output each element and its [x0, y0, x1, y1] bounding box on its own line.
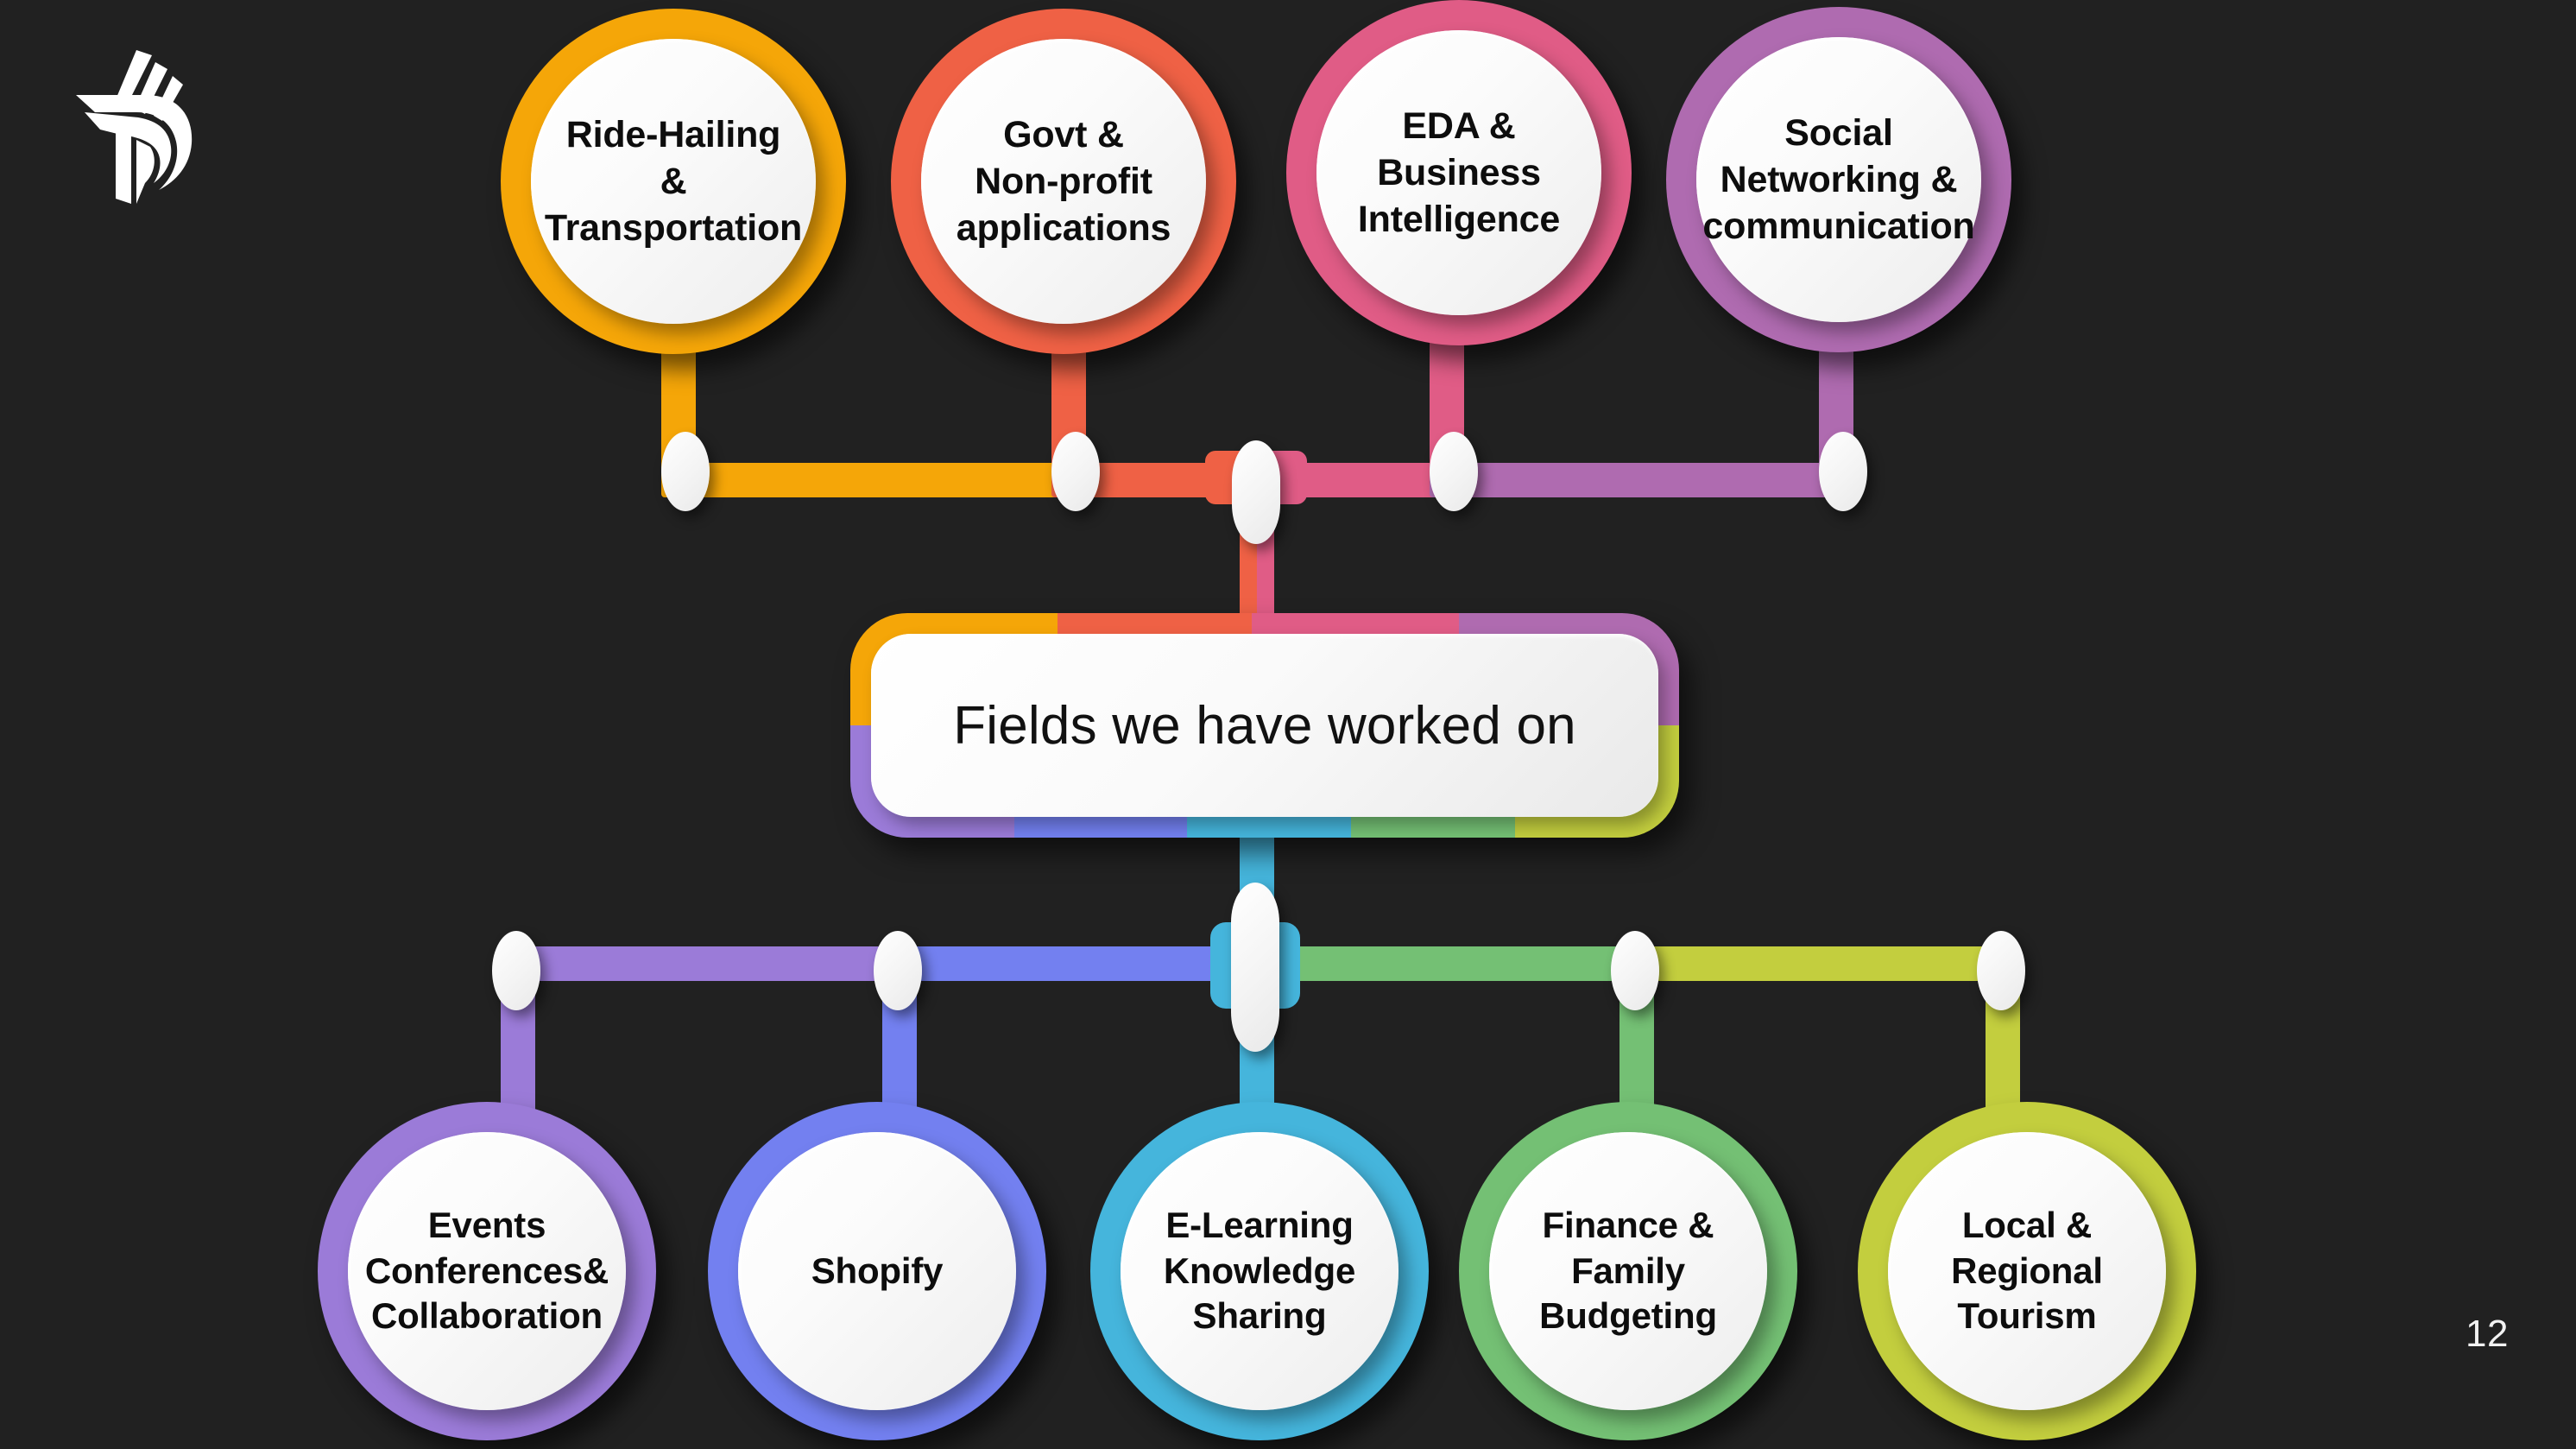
- connector-node-bottom-center: [1231, 883, 1279, 1052]
- bottom-node-2-label: E-Learning Knowledge Sharing: [1164, 1203, 1355, 1340]
- top-node-2-inner: EDA & Business Intelligence: [1316, 30, 1601, 315]
- connector-node-top-4: [1819, 432, 1867, 511]
- bottom-node-3-inner: Finance & Family Budgeting: [1489, 1132, 1767, 1410]
- top-node-0-label: Ride-Hailing & Transportation: [545, 111, 802, 252]
- top-node-2-label: EDA & Business Intelligence: [1316, 103, 1601, 244]
- connector-node-top-3: [1430, 432, 1478, 511]
- center-pill[interactable]: Fields we have worked on: [850, 613, 1679, 838]
- page-number: 12: [2466, 1313, 2509, 1356]
- connector-top-bus-purple: [1430, 463, 1854, 497]
- connector-bottom-bus-blue: [882, 946, 1262, 981]
- bottom-node-4[interactable]: Local & Regional Tourism: [1858, 1102, 2196, 1440]
- bottom-node-2-inner: E-Learning Knowledge Sharing: [1121, 1132, 1398, 1410]
- center-title: Fields we have worked on: [953, 695, 1576, 756]
- bottom-node-3-label: Finance & Family Budgeting: [1539, 1203, 1717, 1340]
- connector-node-bottom-2: [874, 931, 922, 1010]
- company-logo: [62, 35, 209, 207]
- connector-node-bottom-5: [1977, 931, 2025, 1010]
- center-pill-inner: Fields we have worked on: [871, 634, 1658, 817]
- bottom-node-0-inner: Events Conferences& Collaboration: [348, 1132, 626, 1410]
- top-node-2[interactable]: EDA & Business Intelligence: [1286, 0, 1632, 345]
- bottom-node-4-inner: Local & Regional Tourism: [1888, 1132, 2166, 1410]
- connector-node-bottom-1: [492, 931, 540, 1010]
- top-node-1-label: Govt & Non-profit applications: [957, 111, 1171, 252]
- bottom-node-1-label: Shopify: [811, 1249, 944, 1294]
- bottom-node-0[interactable]: Events Conferences& Collaboration: [318, 1102, 656, 1440]
- bottom-node-2[interactable]: E-Learning Knowledge Sharing: [1090, 1102, 1429, 1440]
- bottom-node-1[interactable]: Shopify: [708, 1102, 1046, 1440]
- top-node-1-inner: Govt & Non-profit applications: [921, 39, 1206, 324]
- connector-top-bus-yellow: [661, 463, 1058, 497]
- bottom-node-3[interactable]: Finance & Family Budgeting: [1459, 1102, 1797, 1440]
- bottom-node-1-inner: Shopify: [738, 1132, 1016, 1410]
- bottom-node-0-label: Events Conferences& Collaboration: [365, 1203, 609, 1340]
- connector-node-bottom-4: [1611, 931, 1659, 1010]
- connector-bottom-bus-green: [1257, 946, 1654, 981]
- top-node-0[interactable]: Ride-Hailing & Transportation: [501, 9, 846, 354]
- top-node-3-label: Social Networking & communication: [1702, 110, 1974, 250]
- connector-node-top-1: [661, 432, 710, 511]
- top-node-3[interactable]: Social Networking & communication: [1666, 7, 2011, 352]
- connector-bottom-bus-lime: [1632, 946, 2003, 981]
- connector-node-top-2: [1051, 432, 1100, 511]
- top-node-3-inner: Social Networking & communication: [1696, 37, 1981, 322]
- bottom-node-4-label: Local & Regional Tourism: [1951, 1203, 2103, 1340]
- connector-bottom-bus-purple: [501, 946, 906, 981]
- top-node-1[interactable]: Govt & Non-profit applications: [891, 9, 1236, 354]
- top-node-0-inner: Ride-Hailing & Transportation: [531, 39, 816, 324]
- connector-node-top-center: [1232, 440, 1280, 544]
- slide-canvas: Ride-Hailing & Transportation Govt & Non…: [0, 0, 2576, 1449]
